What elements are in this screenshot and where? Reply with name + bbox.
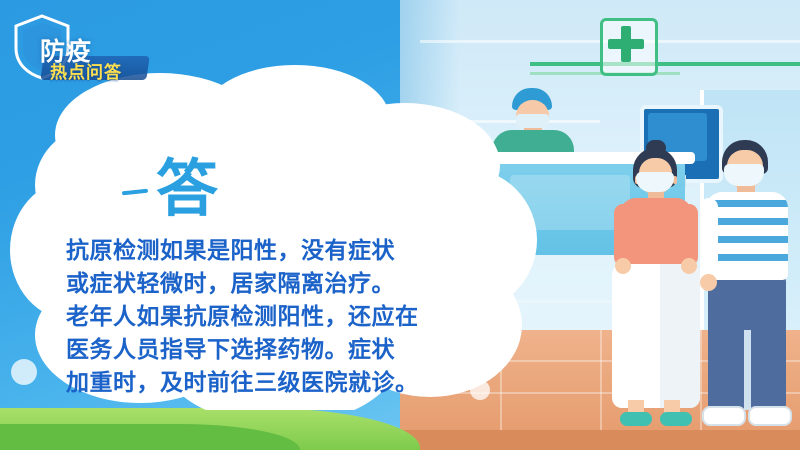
woman-left-arm: [614, 204, 632, 266]
shirt-stripe: [706, 254, 788, 261]
man-left-shoe: [702, 406, 746, 426]
speech-bubble: 答 抗原检测如果是阳性，没有症状 或症状轻微时，居家隔离治疗。 老年人如果抗原检…: [10, 60, 540, 410]
shirt-stripe: [706, 236, 788, 243]
shirt-stripe: [706, 200, 788, 207]
shirt-stripe: [706, 218, 788, 225]
answer-marker: 答: [156, 138, 218, 228]
woman-right-hand: [681, 258, 697, 274]
program-logo: 防疫 热点问答: [12, 14, 148, 86]
man-striped-shirt: man-with-mask: [706, 192, 788, 280]
woman-right-arm: [680, 204, 698, 266]
man-left-hand: [700, 274, 717, 291]
illustration-canvas: medical-cross-icon nurse-behind-counter …: [0, 0, 800, 450]
floor-line: [600, 330, 602, 430]
woman-left-shoe: [620, 412, 652, 426]
man-left-arm: [700, 198, 718, 282]
woman-left-hand: [615, 258, 631, 274]
woman-skirt-shade: [660, 258, 700, 408]
man-right-shoe: [748, 406, 792, 426]
cross-icon-label: medical-cross-icon: [603, 21, 604, 22]
cross-horizontal-bar: [608, 39, 644, 49]
man-face-mask: [724, 164, 764, 186]
floor-baseboard: [400, 430, 800, 450]
answer-text: 抗原检测如果是阳性，没有症状 或症状轻微时，居家隔离治疗。 老年人如果抗原检测阳…: [66, 235, 506, 400]
woman-right-shoe: [660, 412, 692, 426]
wall-rail: [530, 62, 800, 66]
woman-face-mask: [636, 172, 674, 192]
man-leg-gap: [744, 330, 751, 410]
logo-subtitle: 热点问答: [50, 58, 122, 83]
